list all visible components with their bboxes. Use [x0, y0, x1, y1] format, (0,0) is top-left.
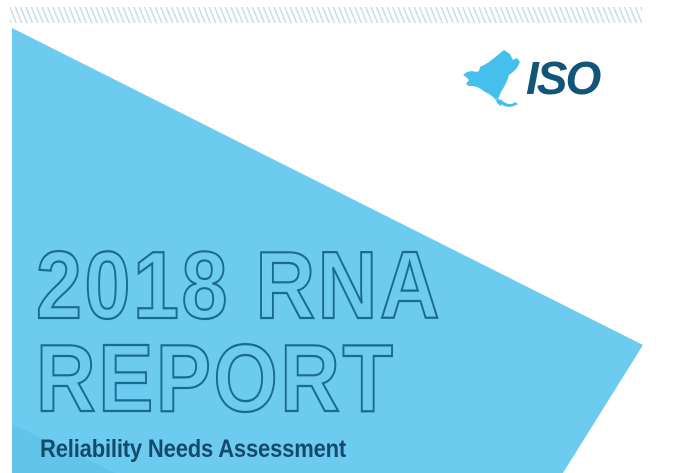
- cover-subtitle: Reliability Needs Assessment: [40, 434, 346, 464]
- iso-wordmark: ISO: [526, 52, 601, 104]
- nyiso-logo[interactable]: ISO: [463, 48, 647, 110]
- report-cover-page: ISO 2018 RNA REPORT Reliability Needs As…: [0, 0, 688, 473]
- new-york-state-outline-icon: [463, 50, 520, 107]
